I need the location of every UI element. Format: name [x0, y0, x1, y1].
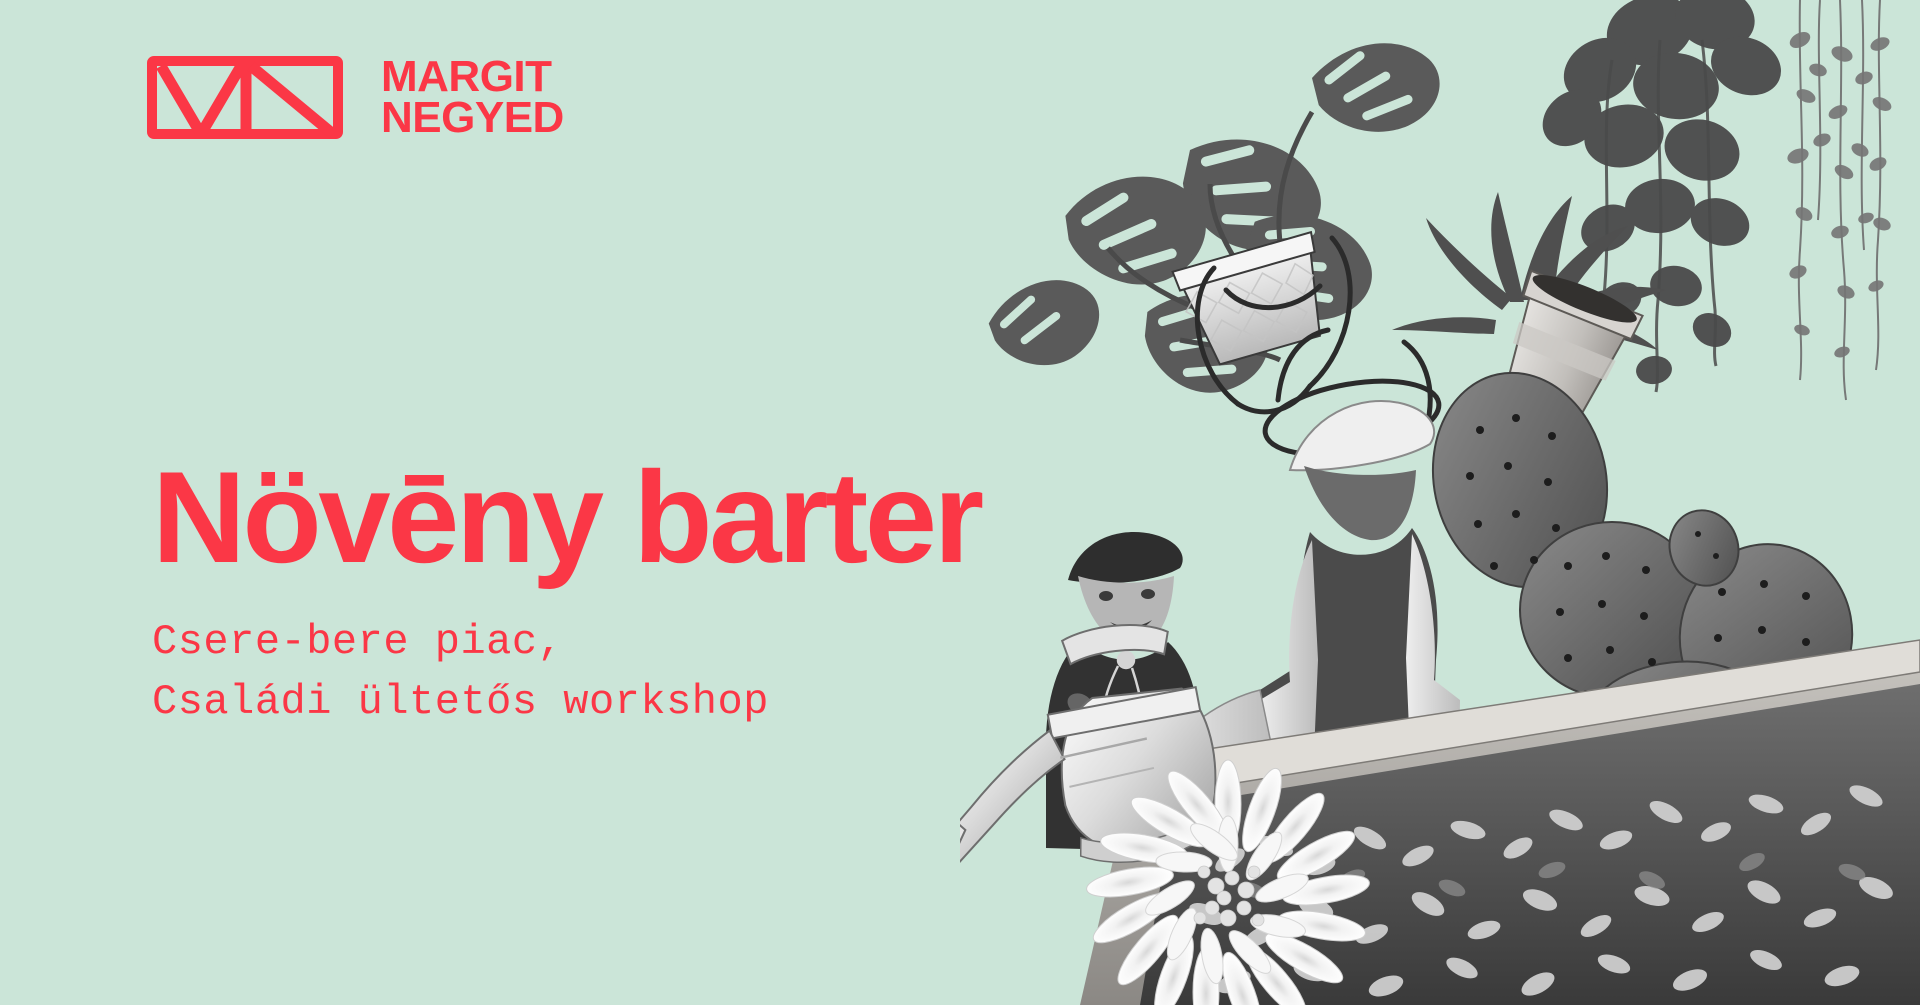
headline-block: Növēny barter Csere-bere piac, Családi ü… — [152, 452, 1152, 732]
raised-garden-bed-graphic — [1080, 640, 1920, 1005]
mn-monogram-icon — [147, 56, 343, 139]
prickly-pear-cactus-graphic — [1413, 356, 1866, 832]
poster-canvas: MARGIT NEGYED Növēny barter Csere-bere p… — [0, 0, 1920, 1005]
vintage-man-photo-graphic — [1139, 401, 1460, 806]
chrysanthemum-flower-graphic — [1084, 760, 1371, 1005]
monstera-leaves-graphic — [981, 30, 1448, 399]
hanging-pothos-vine-graphic — [1531, 0, 1789, 392]
event-title: Növēny barter — [152, 452, 1152, 582]
trailing-string-plant-leaves — [1785, 29, 1893, 360]
white-pot-on-stand-graphic — [1173, 232, 1351, 412]
plant-hanger-hoop-graphic — [1259, 330, 1444, 467]
wordmark-line-2: NEGYED — [381, 98, 564, 139]
wordmark-line-1: MARGIT — [381, 57, 564, 98]
brand-wordmark: MARGIT NEGYED — [381, 57, 564, 139]
event-subtitle: Csere-bere piac, Családi ültetős worksho… — [152, 582, 1152, 732]
brand-logo[interactable]: MARGIT NEGYED — [147, 56, 564, 139]
trailing-string-plant-graphic — [1799, 0, 1880, 400]
cactus-metal-planter — [1558, 744, 1820, 832]
terracotta-pot-fern-graphic — [1392, 192, 1666, 423]
